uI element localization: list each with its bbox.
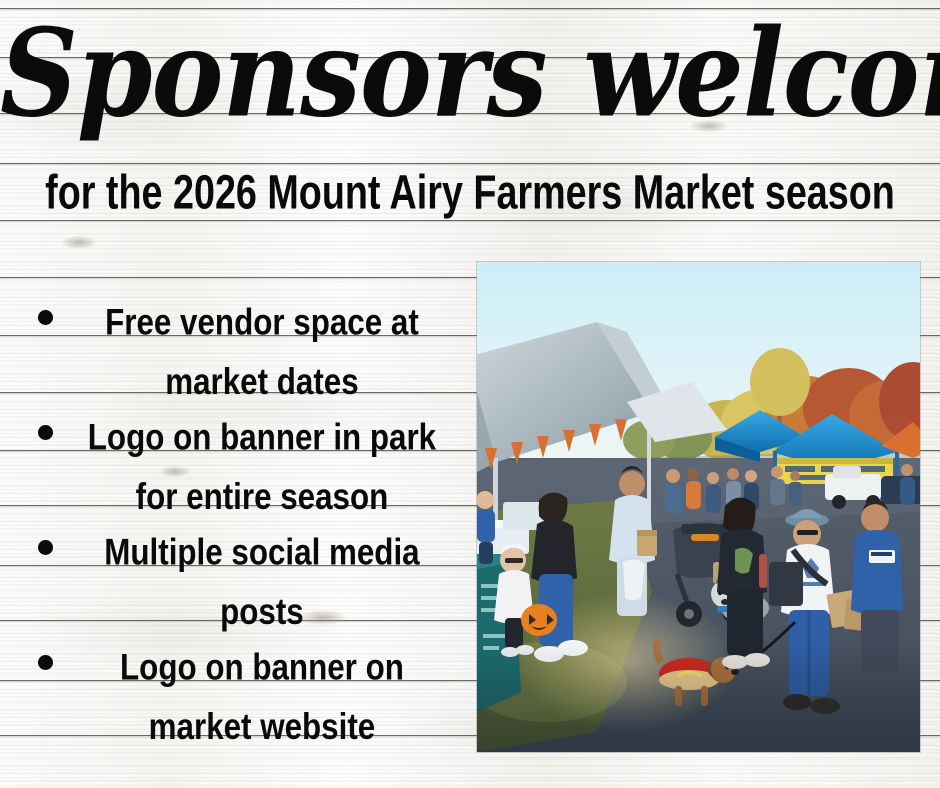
wood-knot (62, 236, 96, 249)
benefit-label: Logo on banner in park for entire season (27, 407, 456, 527)
plank-seam (0, 220, 940, 221)
farmers-market-photo-illustration (477, 262, 920, 752)
benefit-label: Multiple social media posts (27, 522, 456, 642)
list-item: Multiple social media posts (16, 522, 468, 634)
sponsor-flyer: Sponsors welcome for the 2026 Mount Airy… (0, 0, 940, 788)
flyer-title: Sponsors welcome (0, 7, 940, 142)
sponsor-benefits-list: Free vendor space at market dates Logo o… (16, 292, 468, 752)
flyer-subtitle: for the 2026 Mount Airy Farmers Market s… (38, 168, 903, 216)
list-item: Logo on banner on market website (16, 637, 468, 749)
benefit-label: Free vendor space at market dates (27, 292, 456, 412)
benefit-label: Logo on banner on market website (27, 637, 456, 757)
farmers-market-photo (477, 262, 920, 752)
list-item: Free vendor space at market dates (16, 292, 468, 404)
list-item: Logo on banner in park for entire season (16, 407, 468, 519)
